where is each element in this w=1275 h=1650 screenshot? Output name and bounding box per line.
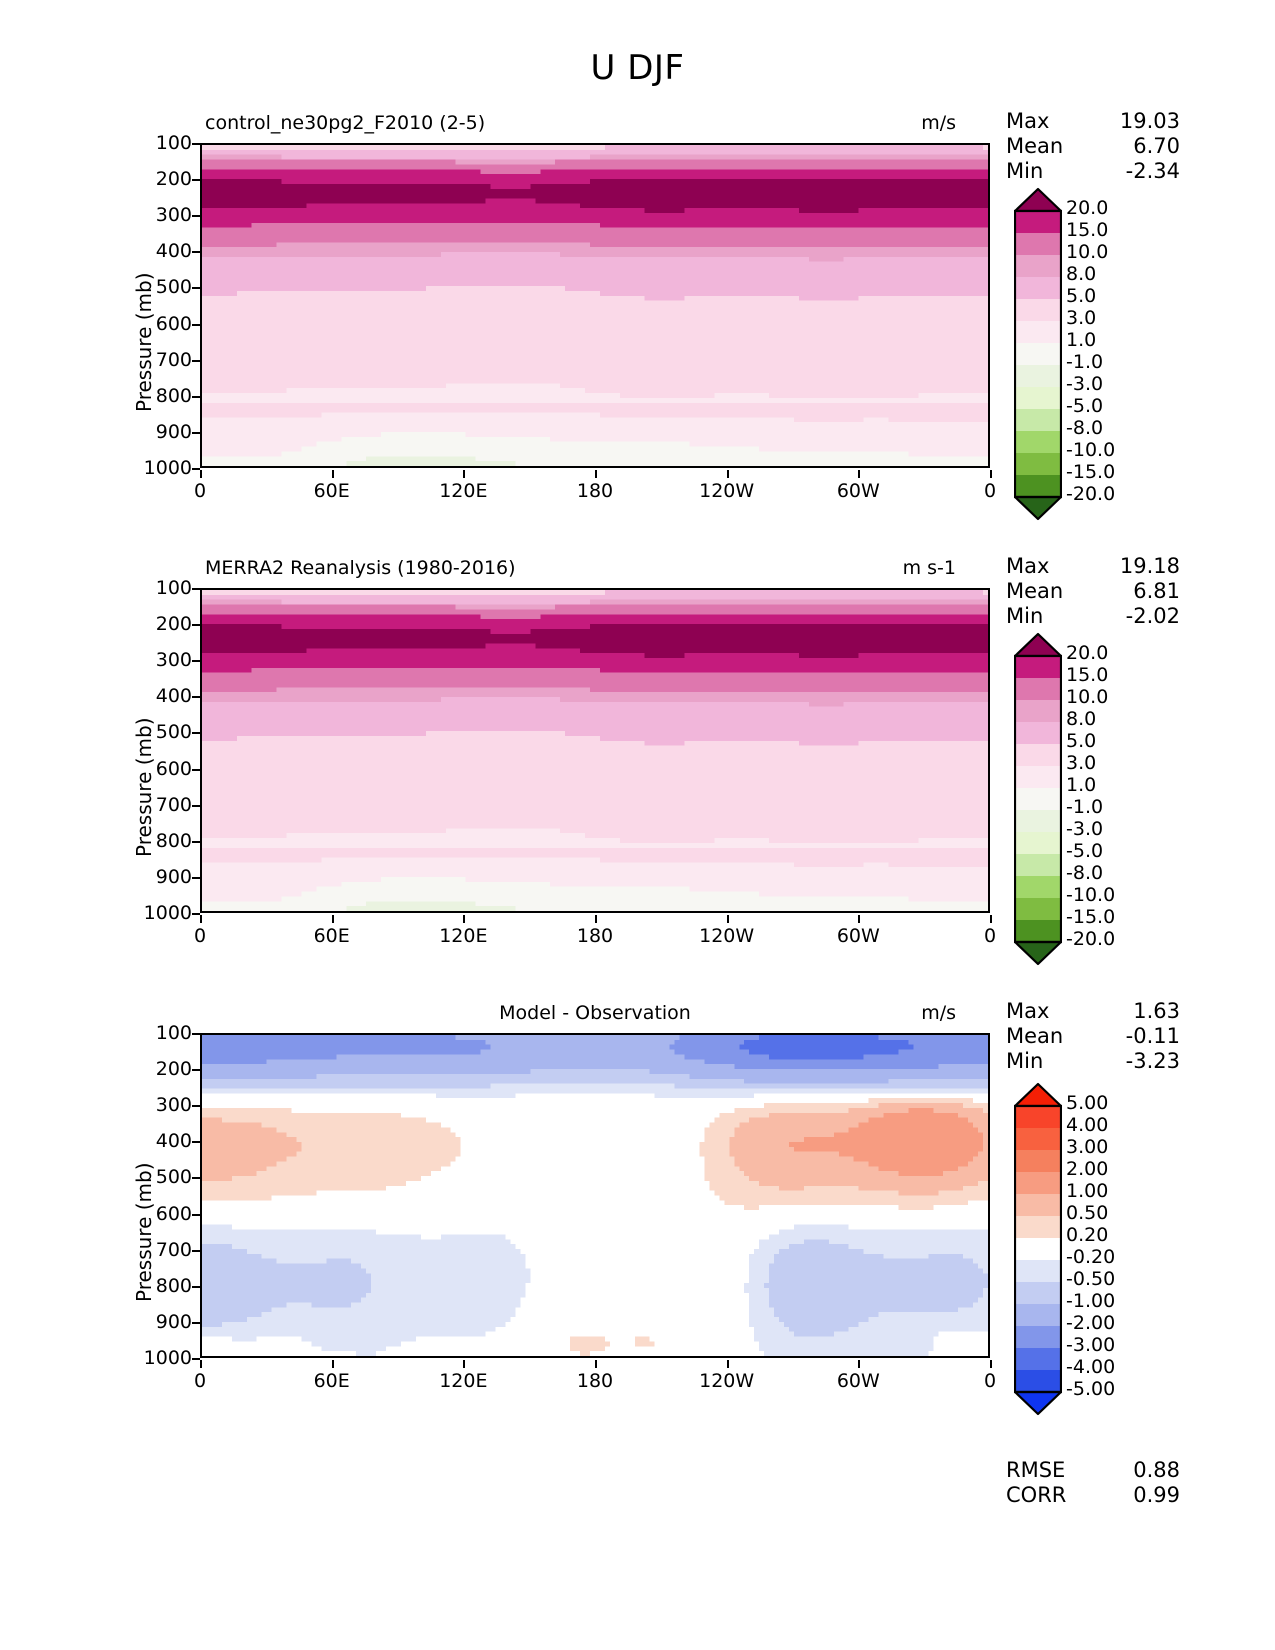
colorbar-tick-label: -20.0	[1066, 485, 1115, 504]
colorbar-tick-label: 3.0	[1066, 754, 1096, 773]
y-tick-mark	[192, 215, 200, 217]
y-tick-mark	[192, 769, 200, 771]
figure-title: U DJF	[0, 48, 1275, 88]
x-tick-mark	[990, 915, 992, 923]
y-tick-label: 400	[132, 240, 192, 262]
units-label-model: m/s	[921, 112, 956, 134]
y-tick-label: 900	[132, 421, 192, 443]
stat-value: 6.70	[1090, 134, 1180, 159]
colorbar-tick-label: 4.00	[1066, 1116, 1108, 1135]
stat-row: Min-2.34	[1006, 159, 1266, 184]
y-tick-mark	[192, 877, 200, 879]
colorbar-tick-label: -3.0	[1066, 820, 1103, 839]
x-tick-label: 120W	[699, 480, 754, 502]
colorbar-tick-label: -10.0	[1066, 441, 1115, 460]
x-tick-label: 60W	[837, 480, 880, 502]
y-tick-label: 300	[132, 649, 192, 671]
x-tick-mark	[463, 915, 465, 923]
stats-block-model: Max19.03Mean6.70Min-2.34	[1006, 109, 1266, 184]
x-tick-label: 120E	[439, 925, 487, 947]
y-tick-label: 800	[132, 830, 192, 852]
colorbar-tick-label: -0.50	[1066, 1270, 1115, 1289]
y-tick-mark	[192, 841, 200, 843]
stat-label: Mean	[1006, 579, 1090, 604]
colorbar-model	[1014, 187, 1060, 521]
stat-row: CORR0.99	[1006, 1483, 1266, 1508]
panel-title-obs: MERRA2 Reanalysis (1980-2016)	[205, 557, 516, 579]
y-tick-mark	[192, 432, 200, 434]
stat-label: Min	[1006, 1049, 1090, 1074]
x-axis-ticks: 060E120E180120W60W0	[200, 474, 990, 504]
y-tick-label: 200	[132, 168, 192, 190]
stat-row: Mean6.81	[1006, 579, 1266, 604]
x-tick-label: 0	[194, 925, 206, 947]
colorbar-tick-label: 3.00	[1066, 1138, 1108, 1157]
stats-block-diff: Max1.63Mean-0.11Min-3.23	[1006, 999, 1266, 1074]
stat-value: -2.34	[1090, 159, 1180, 184]
y-tick-label: 600	[132, 1203, 192, 1225]
stat-label: Min	[1006, 604, 1090, 629]
x-tick-mark	[595, 915, 597, 923]
colorbar-tick-label: -5.0	[1066, 397, 1103, 416]
colorbar-tick-label: -2.00	[1066, 1314, 1115, 1333]
colorbar-tick-label: 1.00	[1066, 1182, 1108, 1201]
y-tick-label: 600	[132, 758, 192, 780]
y-tick-label: 900	[132, 1311, 192, 1333]
colorbar-tick-label: 5.0	[1066, 732, 1096, 751]
x-tick-mark	[858, 470, 860, 478]
units-label-obs: m s-1	[903, 557, 956, 579]
stat-value: -2.02	[1090, 604, 1180, 629]
y-tick-mark	[192, 1033, 200, 1035]
x-tick-label: 0	[984, 925, 996, 947]
x-tick-mark	[990, 470, 992, 478]
plot-area-model	[200, 143, 990, 468]
plot-area-diff	[200, 1033, 990, 1358]
y-tick-label: 500	[132, 721, 192, 743]
y-tick-mark	[192, 1141, 200, 1143]
y-tick-mark	[192, 588, 200, 590]
y-tick-label: 400	[132, 1130, 192, 1152]
y-tick-label: 900	[132, 866, 192, 888]
x-tick-label: 0	[984, 480, 996, 502]
y-tick-mark	[192, 624, 200, 626]
stat-value: -0.11	[1090, 1024, 1180, 1049]
colorbar-tick-label: 20.0	[1066, 199, 1108, 218]
stat-value: 19.18	[1090, 554, 1180, 579]
colorbar-tick-label: -0.20	[1066, 1248, 1115, 1267]
y-tick-label: 100	[132, 132, 192, 154]
stat-label: Mean	[1006, 134, 1090, 159]
stat-label: Mean	[1006, 1024, 1090, 1049]
x-tick-label: 120W	[699, 1370, 754, 1392]
colorbar-tick-label: 1.0	[1066, 331, 1096, 350]
y-tick-mark	[192, 660, 200, 662]
y-axis-ticks: 1002003004005006007008009001000	[128, 143, 192, 468]
stats-block-obs: Max19.18Mean6.81Min-2.02	[1006, 554, 1266, 629]
y-tick-label: 300	[132, 1094, 192, 1116]
y-tick-label: 1000	[132, 902, 192, 924]
x-tick-label: 60E	[314, 925, 350, 947]
colorbar-diff	[1014, 1082, 1060, 1416]
colorbar-tick-label: 10.0	[1066, 243, 1108, 262]
colorbar-tick-label: 1.0	[1066, 776, 1096, 795]
colorbar-tick-label: 20.0	[1066, 644, 1108, 663]
units-label-diff: m/s	[921, 1002, 956, 1024]
colorbar-tick-label: 8.0	[1066, 265, 1096, 284]
x-tick-mark	[200, 470, 202, 478]
x-tick-mark	[858, 1360, 860, 1368]
y-tick-label: 100	[132, 577, 192, 599]
stat-label: Max	[1006, 999, 1090, 1024]
plot-area-obs	[200, 588, 990, 913]
y-tick-mark	[192, 251, 200, 253]
stat-value: 0.99	[1090, 1483, 1180, 1508]
colorbar-tick-label: -20.0	[1066, 930, 1115, 949]
stat-value: 19.03	[1090, 109, 1180, 134]
colorbar-tick-label: -10.0	[1066, 886, 1115, 905]
stat-label: RMSE	[1006, 1458, 1090, 1483]
colorbar-tick-label: 15.0	[1066, 666, 1108, 685]
x-tick-mark	[332, 470, 334, 478]
stat-row: Max1.63	[1006, 999, 1266, 1024]
x-tick-label: 120W	[699, 925, 754, 947]
x-tick-label: 0	[194, 1370, 206, 1392]
x-tick-label: 180	[577, 480, 613, 502]
colorbar-tick-label: -3.0	[1066, 375, 1103, 394]
stat-row: Mean-0.11	[1006, 1024, 1266, 1049]
stat-label: Min	[1006, 159, 1090, 184]
stat-row: Min-2.02	[1006, 604, 1266, 629]
colorbar-tick-label: -8.0	[1066, 419, 1103, 438]
y-axis-ticks: 1002003004005006007008009001000	[128, 588, 192, 913]
x-tick-label: 60E	[314, 1370, 350, 1392]
y-tick-label: 600	[132, 313, 192, 335]
x-tick-label: 120E	[439, 1370, 487, 1392]
colorbar-tick-label: -15.0	[1066, 908, 1115, 927]
panel-title-model: control_ne30pg2_F2010 (2-5)	[205, 112, 485, 134]
colorbar-tick-label: -5.00	[1066, 1380, 1115, 1399]
x-tick-label: 120E	[439, 480, 487, 502]
y-tick-mark	[192, 468, 200, 470]
y-tick-mark	[192, 1177, 200, 1179]
y-tick-label: 800	[132, 1275, 192, 1297]
y-tick-label: 500	[132, 1166, 192, 1188]
x-tick-mark	[990, 1360, 992, 1368]
x-tick-mark	[200, 915, 202, 923]
extra-stats-block: RMSE0.88CORR0.99	[1006, 1458, 1266, 1508]
colorbar-tick-label: -3.00	[1066, 1336, 1115, 1355]
x-tick-mark	[200, 1360, 202, 1368]
y-tick-label: 1000	[132, 457, 192, 479]
y-tick-label: 800	[132, 385, 192, 407]
stat-row: Max19.18	[1006, 554, 1266, 579]
stat-row: RMSE0.88	[1006, 1458, 1266, 1483]
stat-row: Mean6.70	[1006, 134, 1266, 159]
y-tick-label: 700	[132, 349, 192, 371]
stat-value: 6.81	[1090, 579, 1180, 604]
y-tick-mark	[192, 1322, 200, 1324]
stat-label: Max	[1006, 109, 1090, 134]
colorbar-tick-label: 8.0	[1066, 710, 1096, 729]
stat-row: Max19.03	[1006, 109, 1266, 134]
colorbar-tick-label: 5.00	[1066, 1094, 1108, 1113]
y-tick-mark	[192, 179, 200, 181]
stat-value: 1.63	[1090, 999, 1180, 1024]
colorbar-tick-label: 5.0	[1066, 287, 1096, 306]
stat-row: Min-3.23	[1006, 1049, 1266, 1074]
colorbar-tick-label: -1.0	[1066, 353, 1103, 372]
x-tick-mark	[332, 915, 334, 923]
x-tick-label: 0	[194, 480, 206, 502]
y-tick-label: 400	[132, 685, 192, 707]
y-tick-mark	[192, 1250, 200, 1252]
y-tick-mark	[192, 1286, 200, 1288]
x-tick-label: 180	[577, 925, 613, 947]
colorbar-tick-label: 10.0	[1066, 688, 1108, 707]
y-tick-label: 300	[132, 204, 192, 226]
y-tick-label: 700	[132, 1239, 192, 1261]
colorbar-tick-label: 3.0	[1066, 309, 1096, 328]
y-tick-mark	[192, 324, 200, 326]
colorbar-tick-label: -4.00	[1066, 1358, 1115, 1377]
x-tick-label: 0	[984, 1370, 996, 1392]
x-tick-label: 60W	[837, 925, 880, 947]
x-tick-label: 60E	[314, 480, 350, 502]
colorbar-obs	[1014, 632, 1060, 966]
y-tick-label: 200	[132, 1058, 192, 1080]
colorbar-tick-label: 2.00	[1066, 1160, 1108, 1179]
stat-value: 0.88	[1090, 1458, 1180, 1483]
y-tick-mark	[192, 805, 200, 807]
y-tick-mark	[192, 1214, 200, 1216]
x-tick-mark	[595, 1360, 597, 1368]
y-tick-mark	[192, 143, 200, 145]
x-tick-mark	[727, 470, 729, 478]
x-tick-mark	[463, 470, 465, 478]
colorbar-tick-label: 0.50	[1066, 1204, 1108, 1223]
x-axis-ticks: 060E120E180120W60W0	[200, 919, 990, 949]
x-tick-mark	[858, 915, 860, 923]
y-tick-mark	[192, 360, 200, 362]
colorbar-tick-label: -5.0	[1066, 842, 1103, 861]
panel-title-diff: Model - Observation	[200, 1002, 990, 1024]
x-tick-label: 60W	[837, 1370, 880, 1392]
y-tick-mark	[192, 396, 200, 398]
y-tick-mark	[192, 913, 200, 915]
colorbar-tick-label: -1.0	[1066, 798, 1103, 817]
x-tick-mark	[727, 1360, 729, 1368]
colorbar-tick-label: 15.0	[1066, 221, 1108, 240]
colorbar-tick-label: -1.00	[1066, 1292, 1115, 1311]
x-tick-mark	[463, 1360, 465, 1368]
y-tick-label: 1000	[132, 1347, 192, 1369]
y-tick-label: 200	[132, 613, 192, 635]
y-tick-mark	[192, 696, 200, 698]
y-tick-mark	[192, 732, 200, 734]
y-tick-mark	[192, 287, 200, 289]
y-tick-label: 500	[132, 276, 192, 298]
x-tick-mark	[595, 470, 597, 478]
colorbar-tick-label: -15.0	[1066, 463, 1115, 482]
y-tick-mark	[192, 1069, 200, 1071]
y-tick-label: 700	[132, 794, 192, 816]
colorbar-tick-label: 0.20	[1066, 1226, 1108, 1245]
x-tick-mark	[332, 1360, 334, 1368]
x-axis-ticks: 060E120E180120W60W0	[200, 1364, 990, 1394]
y-tick-label: 100	[132, 1022, 192, 1044]
y-tick-mark	[192, 1358, 200, 1360]
x-tick-label: 180	[577, 1370, 613, 1392]
stat-value: -3.23	[1090, 1049, 1180, 1074]
y-axis-ticks: 1002003004005006007008009001000	[128, 1033, 192, 1358]
stat-label: Max	[1006, 554, 1090, 579]
colorbar-tick-label: -8.0	[1066, 864, 1103, 883]
y-tick-mark	[192, 1105, 200, 1107]
x-tick-mark	[727, 915, 729, 923]
stat-label: CORR	[1006, 1483, 1090, 1508]
